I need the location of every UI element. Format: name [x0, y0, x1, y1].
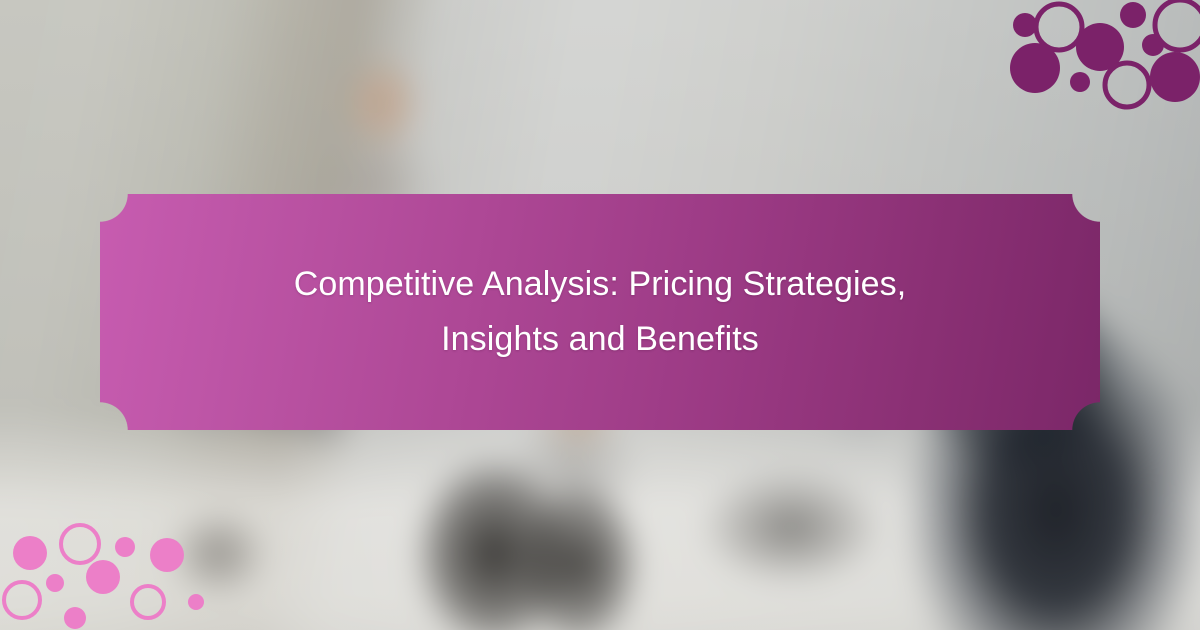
title-banner: Competitive Analysis: Pricing Strategies… [100, 194, 1100, 430]
page-title: Competitive Analysis: Pricing Strategies… [235, 257, 965, 367]
og-image-canvas: Competitive Analysis: Pricing Strategies… [0, 0, 1200, 630]
